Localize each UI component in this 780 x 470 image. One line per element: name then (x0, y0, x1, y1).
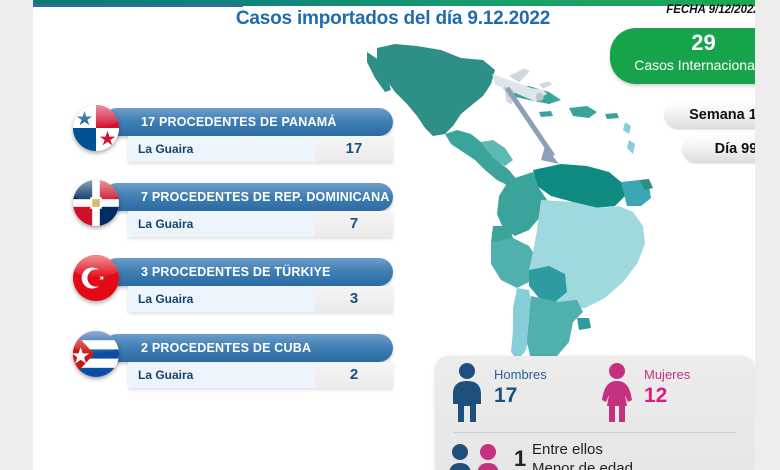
men-text: Hombres 17 (494, 366, 547, 408)
men-label: Hombres (494, 366, 547, 383)
country-header: 3 PROCEDENTES DE TÜRKIYE (103, 258, 393, 286)
minors-line-1: Entre ellos (532, 440, 633, 459)
minors-row: 1 Entre ellos Menor de edad (436, 438, 754, 470)
women-label: Mujeres (644, 366, 690, 383)
airplane-icon (485, 60, 575, 170)
cuba-flag-icon (73, 331, 119, 377)
right-gutter (755, 0, 780, 470)
fecha-label: FECHA 9/12/2022 (633, 4, 755, 16)
men-count: 17 (494, 383, 547, 408)
male-figure-icon (446, 362, 488, 424)
flag-gloss (73, 180, 119, 202)
top-accent-bar-blue-segment (33, 4, 243, 7)
country-header: 7 PROCEDENTES DE REP. DOMINICANA (103, 183, 393, 211)
gender-breakdown-panel: Hombres 17 Mujeres 12 (436, 356, 754, 470)
women-text: Mujeres 12 (644, 366, 690, 408)
content-card: Casos importados del día 9.12.2022 FECHA… (33, 0, 755, 470)
location-label: La Guaira (128, 142, 315, 156)
semana-pill: Semana 143 (665, 102, 755, 128)
country-block: 7 PROCEDENTES DE REP. DOMINICANA La Guai… (73, 183, 393, 245)
turkiye-flag-icon (73, 255, 119, 301)
country-block: 17 PROCEDENTES DE PANAMÁ La Guaira 17 (73, 108, 393, 170)
country-data-row: La Guaira 3 (128, 286, 393, 312)
country-data-row: La Guaira 7 (128, 211, 393, 237)
panama-flag-icon (73, 105, 119, 151)
divider (454, 432, 736, 433)
location-label: La Guaira (128, 368, 315, 382)
minors-line-2: Menor de edad (532, 459, 633, 470)
country-data-row: La Guaira 17 (128, 136, 393, 162)
location-label: La Guaira (128, 292, 315, 306)
female-figure-icon (596, 362, 638, 424)
flag-gloss (73, 331, 119, 353)
location-count: 3 (315, 286, 393, 312)
country-block: 2 PROCEDENTES DE CUBA La Guaira 2 (73, 334, 393, 396)
country-block: 3 PROCEDENTES DE TÜRKIYE La Guaira 3 (73, 258, 393, 320)
flag-gloss (73, 255, 119, 277)
dia-pill: Día 999 (683, 136, 755, 162)
page-title: Casos importados del día 9.12.2022 (183, 8, 603, 30)
minors-count: 1 (514, 446, 526, 470)
country-header: 17 PROCEDENTES DE PANAMÁ (103, 108, 393, 136)
minors-figures-icon (446, 442, 508, 470)
dominican-republic-flag-icon (73, 180, 119, 226)
location-count: 17 (315, 136, 393, 162)
location-label: La Guaira (128, 217, 315, 231)
women-count: 12 (644, 383, 690, 408)
gender-row: Hombres 17 Mujeres 12 (436, 356, 754, 428)
minors-text: Entre ellos Menor de edad (532, 440, 633, 470)
flag-gloss (73, 105, 119, 127)
location-count: 2 (315, 362, 393, 388)
location-count: 7 (315, 211, 393, 237)
country-header: 2 PROCEDENTES DE CUBA (103, 334, 393, 362)
country-data-row: La Guaira 2 (128, 362, 393, 388)
left-gutter (0, 0, 33, 470)
infographic-canvas: Casos importados del día 9.12.2022 FECHA… (0, 0, 780, 470)
